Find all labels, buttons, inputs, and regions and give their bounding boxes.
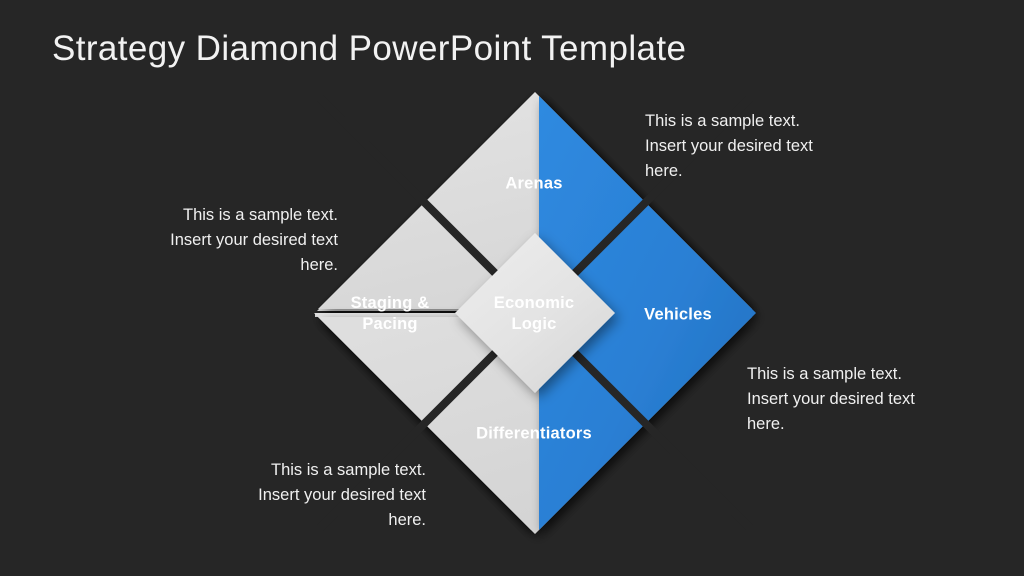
- slide-canvas: Strategy Diamond PowerPoint Template: [0, 0, 1024, 576]
- caption-bottom-right[interactable]: This is a sample text. Insert your desir…: [747, 362, 962, 437]
- page-title: Strategy Diamond PowerPoint Template: [52, 29, 686, 69]
- caption-bottom-left[interactable]: This is a sample text. Insert your desir…: [228, 458, 426, 533]
- caption-top-right[interactable]: This is a sample text. Insert your desir…: [645, 109, 860, 184]
- caption-left[interactable]: This is a sample text. Insert your desir…: [140, 203, 338, 278]
